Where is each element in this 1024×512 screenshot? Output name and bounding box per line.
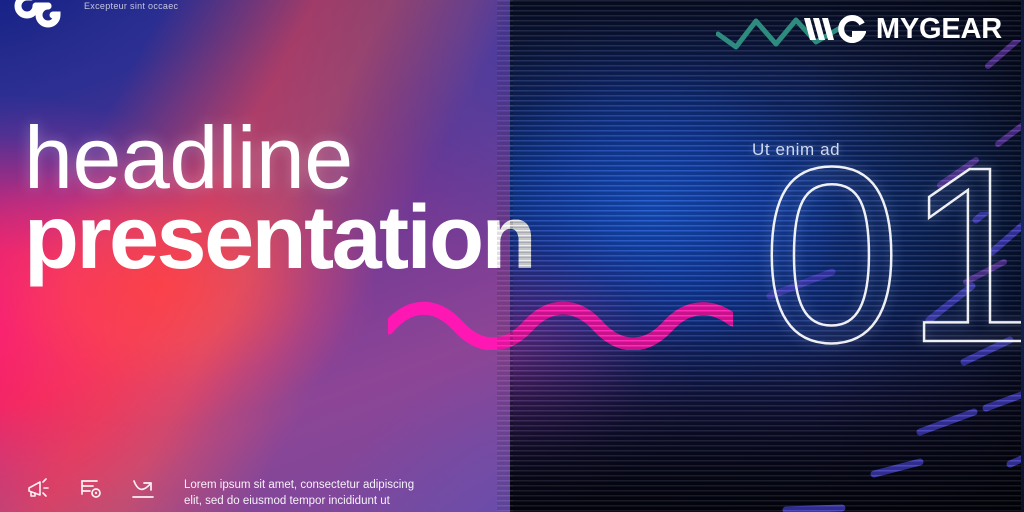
- document-settings-icon[interactable]: [78, 476, 104, 502]
- headline-bold-solid: presentation: [24, 193, 534, 283]
- footer-description: Lorem ipsum sit amet, consectetur adipis…: [184, 477, 434, 510]
- slide-number: 01: [762, 130, 1024, 380]
- footer: Lorem ipsum sit amet, consectetur adipis…: [26, 476, 434, 510]
- footer-icon-row: [26, 476, 156, 502]
- trend-arrow-icon[interactable]: [130, 476, 156, 502]
- brand-left[interactable]: Excepteur sint occaec: [14, 0, 178, 28]
- brand-right-name: MYGEAR: [876, 13, 1002, 46]
- brand-right[interactable]: MYGEAR: [804, 12, 1002, 46]
- infinity-link-logo-icon: [14, 0, 70, 28]
- presentation-slide: headline presentation presentation prese…: [0, 0, 1024, 512]
- megaphone-icon[interactable]: [26, 476, 52, 502]
- pink-wave-decor: [388, 298, 733, 350]
- mygear-chevron-g-icon: [804, 12, 866, 46]
- brand-left-tagline: Excepteur sint occaec: [84, 1, 178, 11]
